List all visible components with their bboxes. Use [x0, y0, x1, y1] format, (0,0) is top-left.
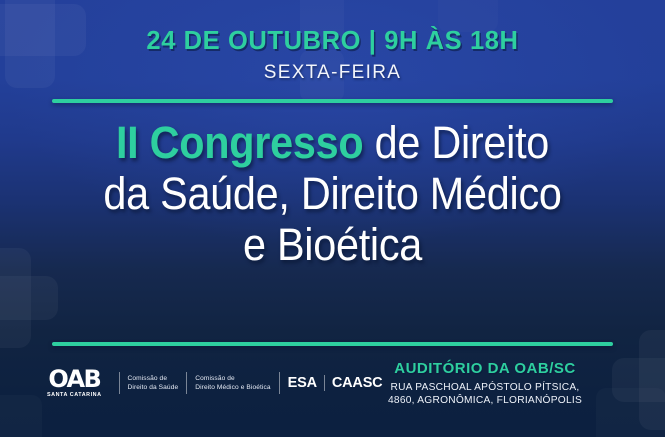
venue-address: RUA PASCHOAL APÓSTOLO PÍTSICA, 4860, AGR…	[335, 381, 635, 408]
event-date-time: 24 DE OUTUBRO | 9H ÀS 18H	[0, 27, 665, 56]
commission-saude: Comissão de Direito da Saúde	[128, 374, 179, 393]
event-title-line2: da Saúde, Direito Médico	[103, 168, 561, 219]
event-weekday: SEXTA-FEIRA	[0, 62, 665, 84]
event-title-line1-rest: de Direito	[363, 117, 549, 168]
logo-divider-4	[324, 375, 325, 391]
venue-title: AUDITÓRIO DA OAB/SC	[335, 360, 635, 377]
venue-info: AUDITÓRIO DA OAB/SC RUA PASCHOAL APÓSTOL…	[335, 360, 635, 408]
logo-divider-1	[119, 372, 120, 394]
commission-medico-line1: Comissão de	[195, 374, 270, 383]
commission-medico: Comissão de Direito Médico e Bioética	[195, 374, 270, 393]
divider-top	[52, 99, 613, 103]
event-title-line3: e Bioética	[243, 219, 422, 270]
esa-logo: ESA	[288, 375, 317, 391]
oab-subtitle: SANTA CATARINA	[47, 393, 102, 398]
oab-logo: OAB SANTA CATARINA	[47, 368, 102, 398]
event-poster: 24 DE OUTUBRO | 9H ÀS 18H SEXTA-FEIRA II…	[0, 0, 665, 437]
logo-divider-2	[186, 372, 187, 394]
commission-saude-line2: Direito da Saúde	[128, 383, 179, 392]
oab-wordmark: OAB	[48, 368, 100, 391]
footer-logos: OAB SANTA CATARINA Comissão de Direito d…	[47, 362, 382, 404]
commission-medico-line2: Direito Médico e Bioética	[195, 383, 270, 392]
poster-content: 24 DE OUTUBRO | 9H ÀS 18H SEXTA-FEIRA II…	[0, 0, 665, 437]
event-title: II Congresso de Direito da Saúde, Direit…	[54, 118, 611, 271]
venue-address-line2: 4860, AGRONÔMICA, FLORIANÓPOLIS	[335, 394, 635, 407]
venue-address-line1: RUA PASCHOAL APÓSTOLO PÍTSICA,	[335, 381, 635, 394]
divider-bottom	[52, 342, 613, 346]
commission-saude-line1: Comissão de	[128, 374, 179, 383]
oab-letters: OAB	[48, 367, 100, 391]
event-title-accent: II Congresso	[116, 117, 363, 168]
logo-divider-3	[279, 372, 280, 394]
